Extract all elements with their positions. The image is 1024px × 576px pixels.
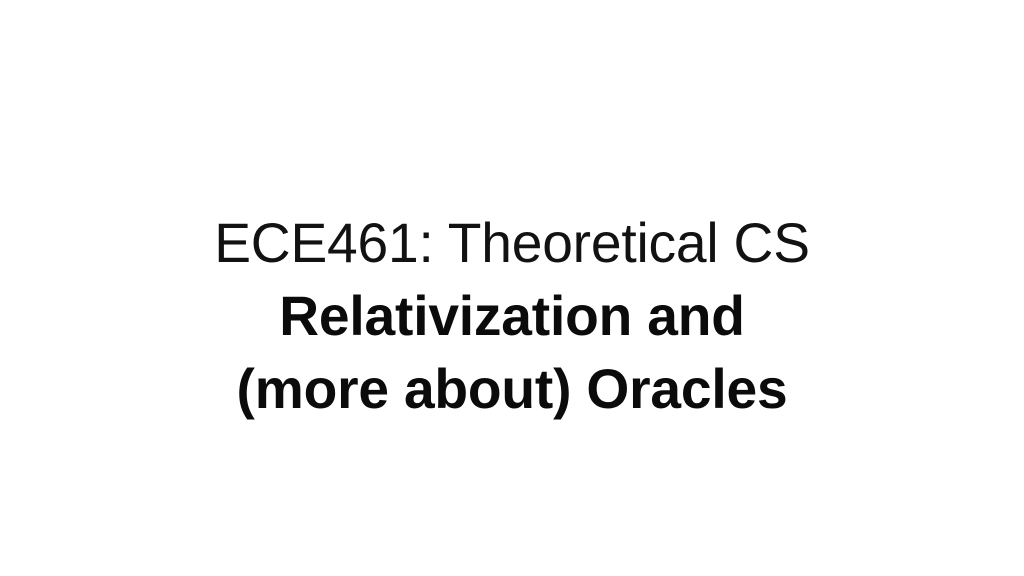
slide-title-line-2: Relativization and (8, 279, 1017, 352)
slide-title-line-3: (more about) Oracles (8, 352, 1017, 425)
presentation-slide: ECE461: Theoretical CS Relativization an… (0, 0, 1024, 576)
slide-title-block: ECE461: Theoretical CS Relativization an… (0, 206, 1024, 425)
slide-title-line-1: ECE461: Theoretical CS (8, 206, 1017, 279)
